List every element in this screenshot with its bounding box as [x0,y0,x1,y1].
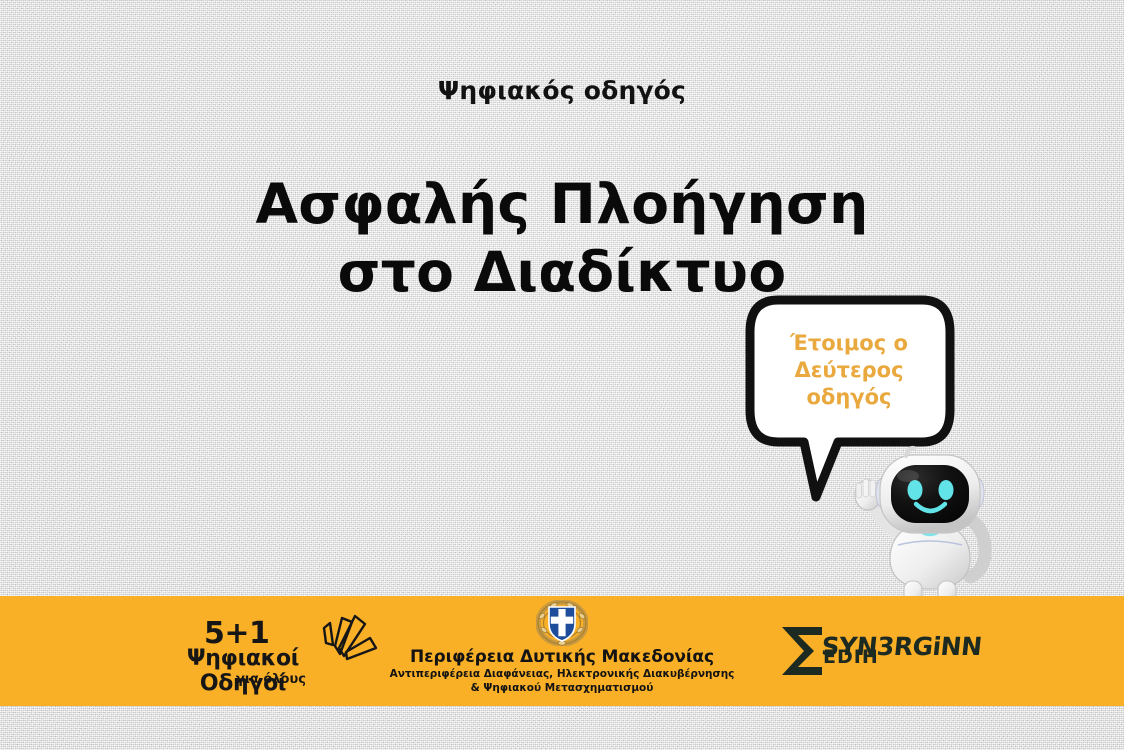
region-subtitle-line-1: Αντιπεριφέρεια Διαφάνειας, Ηλεκτρονικής … [362,667,762,681]
speech-bubble-text: Έτοιμος ο Δεύτερος οδηγός [760,330,938,411]
bubble-line-1: Έτοιμος ο [760,330,938,357]
robot-mascot-illustration [846,445,1014,620]
page-title: Ασφαλής Πλοήγηση στο Διαδίκτυο [0,170,1124,306]
synerginn-wordmark: SYN3RGiNN [820,632,983,661]
guides-title: Ψηφιακοί Οδηγοί [148,646,338,696]
footer-bar: 5+1 Ψηφιακοί Οδηγοί για όλους [0,596,1124,706]
greek-coat-of-arms-icon [536,600,588,646]
synerginn-logo-icon: EDIH SYN3RGiNN [778,623,988,685]
region-title: Περιφέρεια Δυτικής Μακεδονίας [362,647,762,667]
region-subtitle-line-2: & Ψηφιακού Μετασχηματισμού [362,681,762,695]
synerginn-sublabel-text: EDIH [778,685,779,686]
bubble-line-3: οδηγός [760,384,938,411]
guides-subtitle: για όλους [236,672,306,687]
logo-synerginn-edih: EDIH SYN3RGiNN SYNERGINN EDIH [778,623,988,685]
robot-mascot [846,445,1014,620]
slide-canvas: Ψηφιακός οδηγός Ασφαλής Πλοήγηση στο Δια… [0,0,1124,750]
logo-digital-guides: 5+1 Ψηφιακοί Οδηγοί για όλους [148,604,388,700]
bubble-line-2: Δεύτερος [760,357,938,384]
robot-eye-right [939,480,954,500]
sigma-mark [782,627,822,675]
synerginn-wordmark-text: SYNERGINN [778,685,779,686]
robot-eye-left [908,480,923,500]
kicker-text: Ψηφιακός οδηγός [0,76,1124,105]
page-title-line-1: Ασφαλής Πλοήγηση [255,172,868,236]
logo-region-western-macedonia: Περιφέρεια Δυτικής Μακεδονίας Αντιπεριφέ… [362,600,762,695]
